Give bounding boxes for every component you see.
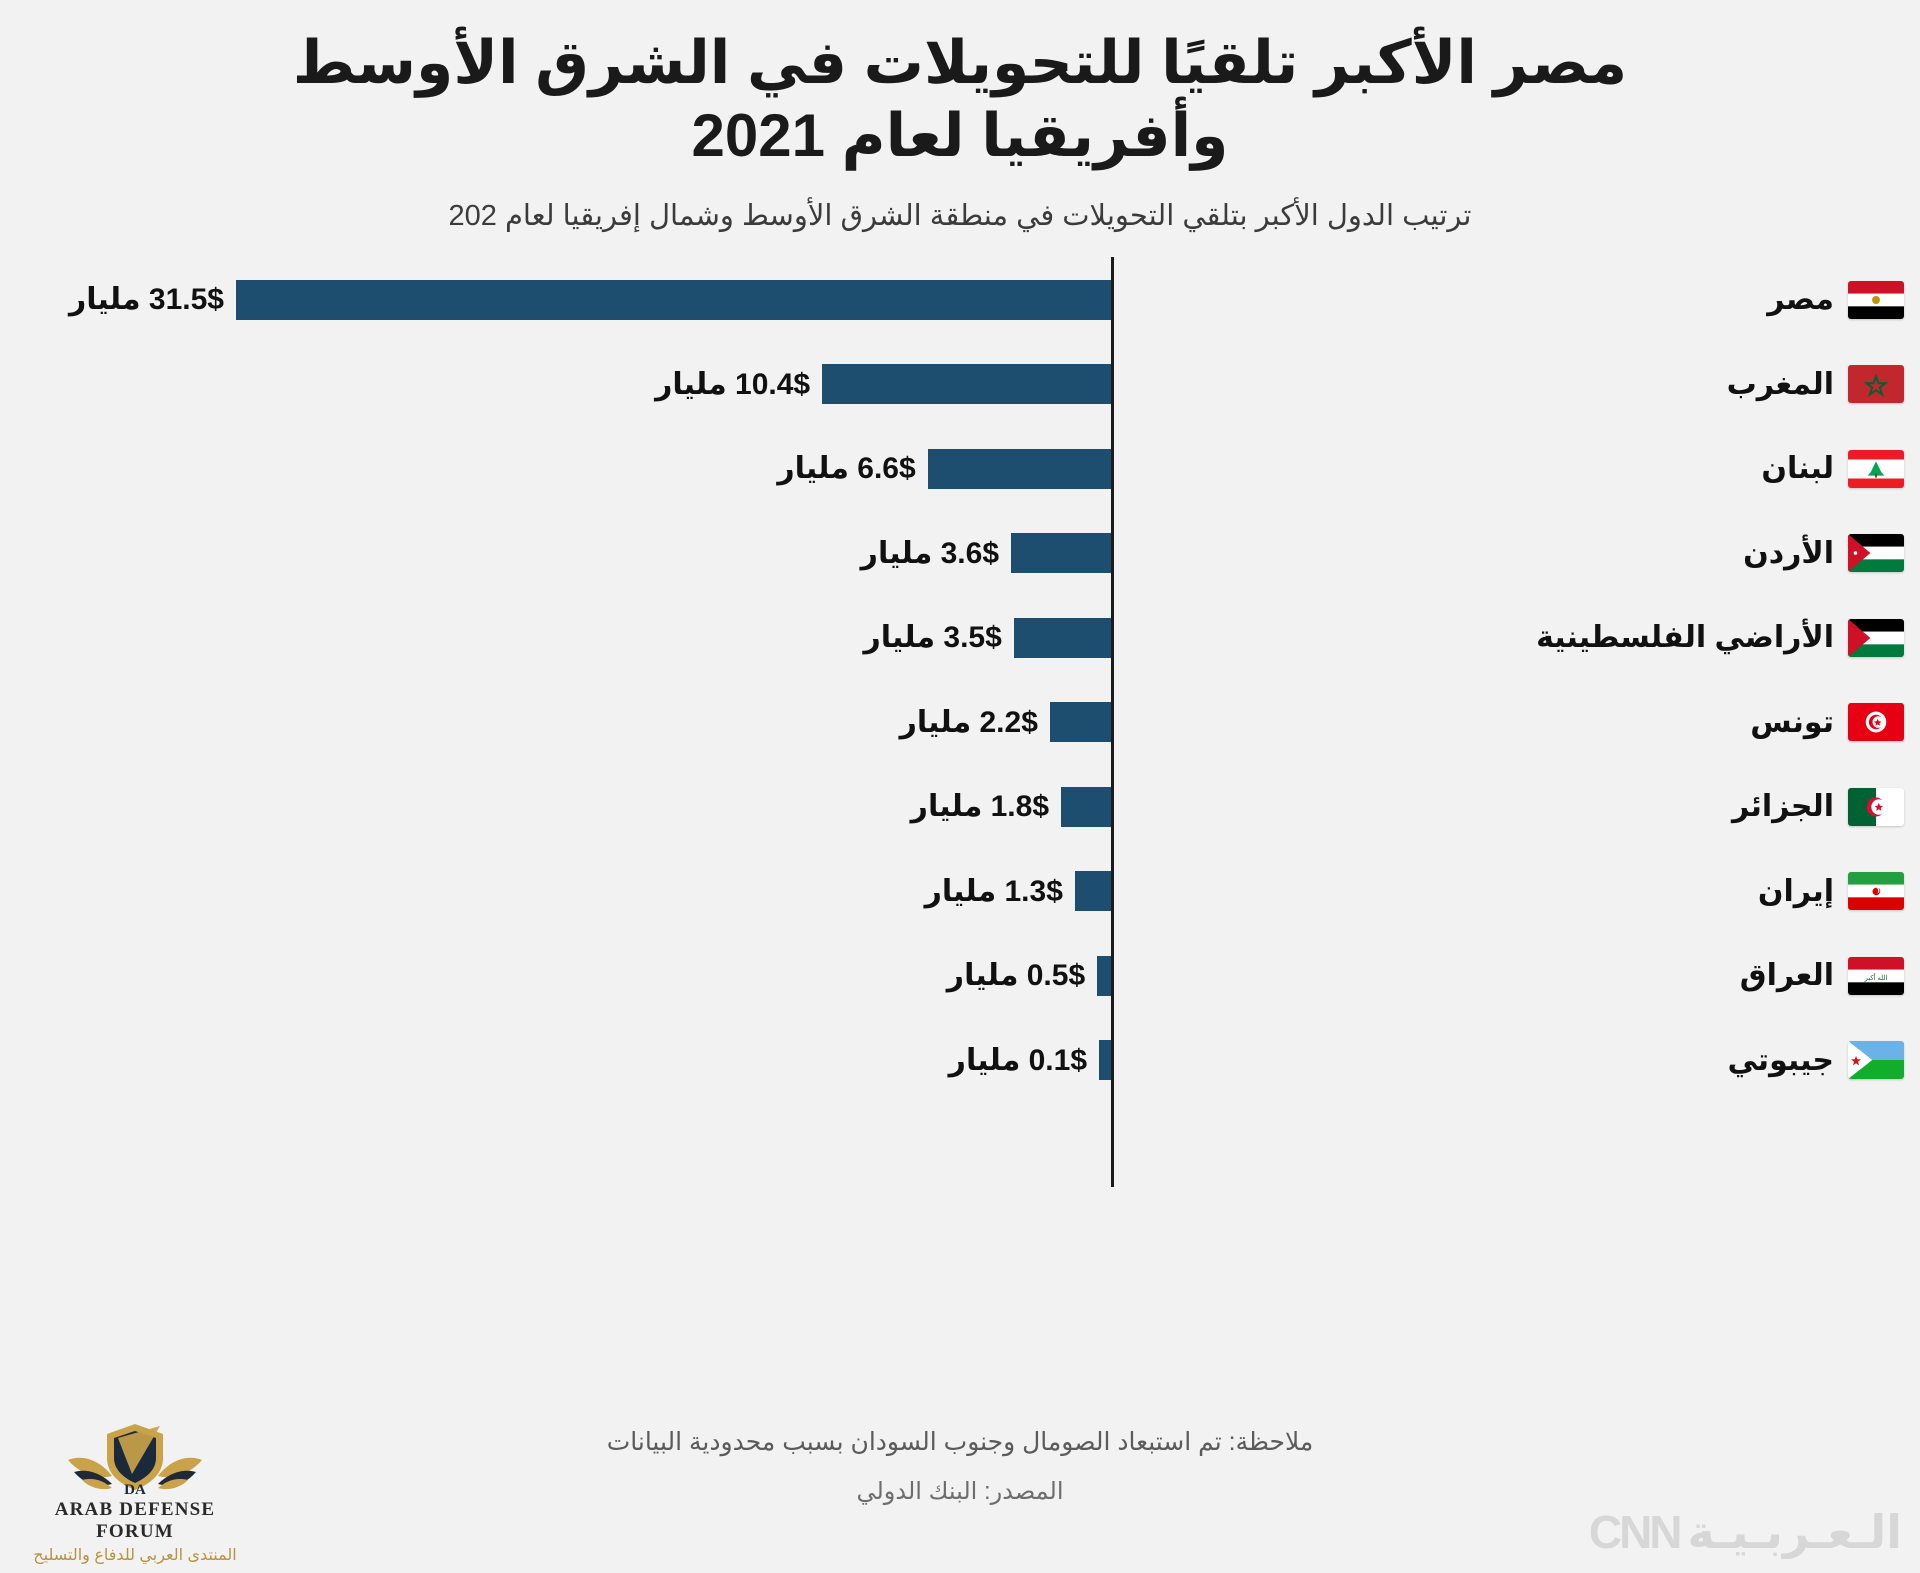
country-name-label: العراق [1740,958,1834,993]
iran-flag-icon [1848,872,1904,910]
country-name-label: الأردن [1743,536,1834,571]
bar-row: 3.5$ مليار الأراضي الفلسطينية [0,595,1920,680]
bar-value-label: 0.5$ مليار [947,958,1085,993]
shield-wreath-icon: DA [60,1420,210,1498]
iraq-flag-icon: الله أكبر [1848,957,1904,995]
egypt-flag-icon [1848,281,1904,319]
djibouti-flag-icon [1848,1041,1904,1079]
country-name-label: الأراضي الفلسطينية [1536,620,1834,655]
country-name-label: إيران [1758,874,1834,909]
palestine-flag-icon [1848,619,1904,657]
bar-value-label: 0.1$ مليار [949,1043,1087,1078]
bar-area: 31.5$ مليار [0,257,1111,342]
row-label: إيران [1120,872,1920,910]
jordan-flag-icon [1848,534,1904,572]
bar [1014,618,1111,658]
chart-header: مصر الأكبر تلقيًا للتحويلات في الشرق الأ… [0,0,1920,233]
bar-row: 6.6$ مليار لبنان [0,426,1920,511]
bar-area: 10.4$ مليار [0,342,1111,427]
bar-row: 0.1$ مليار جيبوتي [0,1018,1920,1103]
chart-footer: ملاحظة: تم استبعاد الصومال وجنوب السودان… [0,1403,1920,1573]
arab-defense-forum-logo: DA ARAB DEFENSE FORUM المنتدى العربي للد… [20,1420,250,1565]
cnn-arabic-label: الـعـربـيـة [1688,1505,1902,1559]
bar-value-label: 31.5$ مليار [69,282,224,317]
bar-row: 0.5$ مليار الله أكبر العراق [0,933,1920,1018]
source-text: المصدر: البنك الدولي [0,1477,1920,1506]
bar-row: 1.8$ مليار الجزائر [0,764,1920,849]
bar-row: 31.5$ مليار مصر [0,257,1920,342]
bar-area: 1.3$ مليار [0,849,1111,934]
row-label: مصر [1120,281,1920,319]
bar-value-label: 1.3$ مليار [925,874,1063,909]
bar-value-label: 2.2$ مليار [900,705,1038,740]
bar-area: 1.8$ مليار [0,764,1111,849]
row-label: جيبوتي [1120,1041,1920,1079]
country-name-label: الجزائر [1732,789,1834,824]
bar-area: 0.1$ مليار [0,1018,1111,1103]
bar [1099,1040,1111,1080]
algeria-flag-icon [1848,788,1904,826]
bar-row: 10.4$ مليار المغرب [0,342,1920,427]
bar-row: 3.6$ مليار الأردن [0,511,1920,596]
bar-value-label: 6.6$ مليار [777,451,915,486]
row-label: الأراضي الفلسطينية [1120,619,1920,657]
bar [1011,533,1111,573]
bar-row: 1.3$ مليار إيران [0,849,1920,934]
bar [822,364,1111,404]
country-name-label: جيبوتي [1727,1043,1834,1078]
bar-value-label: 3.6$ مليار [861,536,999,571]
row-label: لبنان [1120,450,1920,488]
bar [236,280,1111,320]
bar [1075,871,1111,911]
adf-title-text: ARAB DEFENSE FORUM [20,1499,250,1543]
bar-row: 2.2$ مليار تونس [0,680,1920,765]
country-name-label: لبنان [1761,451,1834,486]
chart-subtitle: ترتيب الدول الأكبر بتلقي التحويلات في من… [0,198,1920,233]
cnn-arabic-logo: الـعـربـيـة CNN [1589,1505,1902,1559]
row-label: الجزائر [1120,788,1920,826]
bar-area: 0.5$ مليار [0,933,1111,1018]
adf-subtitle-text: المنتدى العربي للدفاع والتسليح [20,1545,250,1565]
bar-value-label: 3.5$ مليار [863,620,1001,655]
country-name-label: مصر [1767,282,1834,317]
row-label: المغرب [1120,365,1920,403]
bar-value-label: 1.8$ مليار [911,789,1049,824]
bar-value-label: 10.4$ مليار [655,367,810,402]
morocco-flag-icon [1848,365,1904,403]
row-label: تونس [1120,703,1920,741]
row-label: الله أكبر العراق [1120,957,1920,995]
bar-area: 3.5$ مليار [0,595,1111,680]
tunisia-flag-icon [1848,703,1904,741]
bar-chart: 31.5$ مليار مصر10.4$ مليار المغرب6.6$ مل… [0,257,1920,1187]
row-label: الأردن [1120,534,1920,572]
lebanon-flag-icon [1848,450,1904,488]
bar [1061,787,1111,827]
bar [1097,956,1111,996]
bar [928,449,1111,489]
infographic-page: مصر الأكبر تلقيًا للتحويلات في الشرق الأ… [0,0,1920,1573]
bar-rows-container: 31.5$ مليار مصر10.4$ مليار المغرب6.6$ مل… [0,257,1920,1102]
bar [1050,702,1111,742]
bar-area: 3.6$ مليار [0,511,1111,596]
page-title: مصر الأكبر تلقيًا للتحويلات في الشرق الأ… [180,26,1740,172]
bar-area: 2.2$ مليار [0,680,1111,765]
bar-area: 6.6$ مليار [0,426,1111,511]
country-name-label: تونس [1750,705,1834,740]
footnote-text: ملاحظة: تم استبعاد الصومال وجنوب السودان… [0,1427,1920,1457]
country-name-label: المغرب [1727,367,1834,402]
adf-monogram-text: DA [124,1482,146,1498]
cnn-wordmark: CNN [1589,1505,1680,1559]
